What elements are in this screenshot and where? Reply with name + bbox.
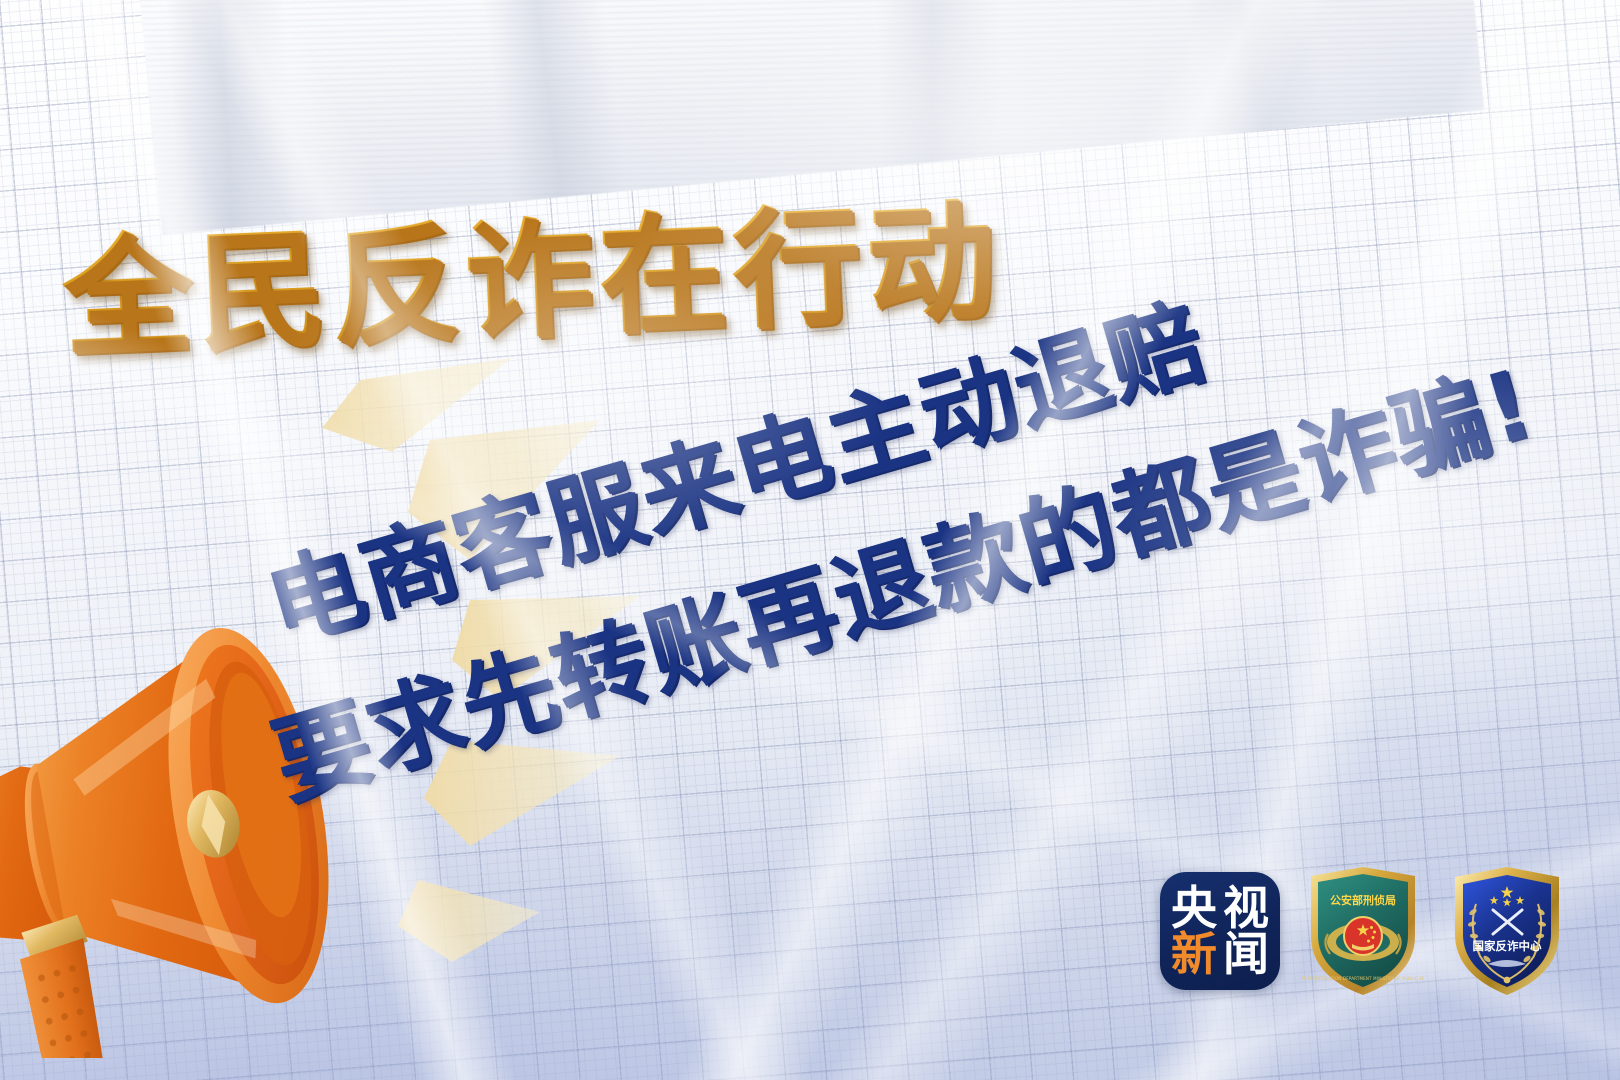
anti-fraud-center-badge-icon[interactable]: 国家反诈中心 — [1446, 864, 1568, 998]
cctv-char-yang: 央 — [1168, 885, 1220, 931]
cctv-char-shi: 视 — [1220, 885, 1272, 931]
cctv-logo-row-top: 央 视 — [1168, 885, 1272, 931]
police-badge-icon[interactable]: 公安部刑侦局 CRIMINAL INVESTIGATION DEPARTMENT… — [1302, 864, 1424, 998]
anti-fraud-badge-title: 国家反诈中心 — [1473, 939, 1542, 953]
message-block: 电商客服来电主动退赔 要求先转账再退款的都是诈骗! — [258, 392, 1620, 812]
police-badge-title: 公安部刑侦局 — [1330, 893, 1396, 907]
cctv-logo-row-bottom: 新 闻 — [1168, 931, 1272, 977]
anti-fraud-poster: 全民反诈在行动 电商客服来电主动退赔 要求先转账再退款的都是诈骗! 央 视 新 … — [0, 0, 1620, 1080]
page-title: 全民反诈在行动 — [59, 156, 1004, 380]
police-badge-ring-text: CRIMINAL INVESTIGATION DEPARTMENT MINIST… — [1302, 976, 1424, 981]
logo-row: 央 视 新 闻 — [1160, 864, 1568, 998]
cctv-char-xin: 新 — [1168, 931, 1220, 977]
cctv-char-wen: 闻 — [1220, 931, 1272, 977]
cctv-news-logo[interactable]: 央 视 新 闻 — [1160, 872, 1280, 990]
